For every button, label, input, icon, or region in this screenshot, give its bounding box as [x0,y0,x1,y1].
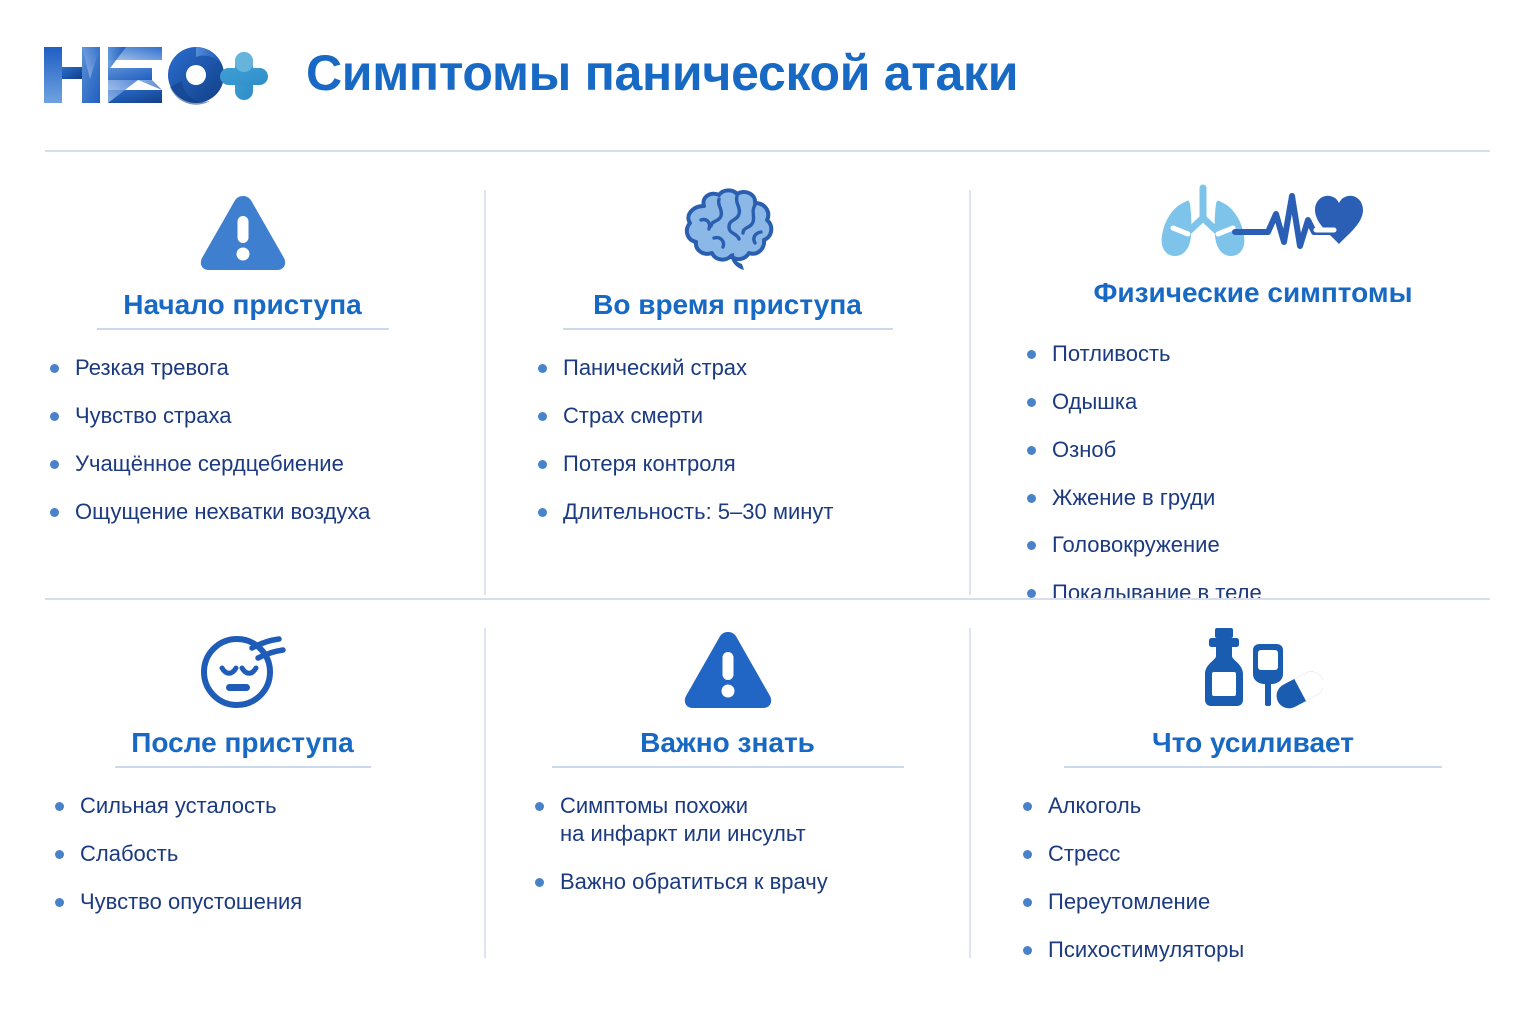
card-onset: Начало приступа Резкая тревога Чувство с… [0,160,485,598]
page-title: Симптомы панической атаки [306,48,1018,102]
infographic-page: Симптомы панической атаки Начало приступ… [0,0,1536,1024]
symptom-list: Потливость Одышка Озноб Жжение в груди Г… [966,340,1536,626]
list-item: Потливость [1022,340,1536,368]
card-title: Начало приступа [123,290,362,319]
list-item: Слабость [50,840,487,868]
brain-icon [673,182,783,274]
card-title-underline [552,766,904,768]
list-item: Потеря контроля [533,450,970,478]
list-item: Головокружение [1022,531,1536,559]
card-title: Физические симптомы [1094,278,1413,307]
lungs-ecg-heart-icon [1128,182,1378,262]
list-item: Учащённое сердцебиение [45,450,482,478]
list-item: Алкоголь [1018,792,1536,820]
list-item: Ощущение нехватки воздуха [45,498,482,526]
list-item: Жжение в груди [1022,484,1536,512]
card-title: Важно знать [640,728,815,757]
symptom-list: Сильная усталость Слабость Чувство опуст… [0,792,487,935]
card-title-underline [563,328,893,330]
warning-triangle-icon [198,182,288,274]
list-item-line: на инфаркт или инсульт [560,820,967,848]
symptom-list: Панический страх Страх смерти Потеря кон… [485,354,970,545]
list-item: Сильная усталость [50,792,487,820]
list-item: Страх смерти [533,402,970,430]
list-item: Резкая тревога [45,354,482,382]
list-item: Важно обратиться к врачу [530,868,967,896]
card-title-underline [115,766,371,768]
header-divider [45,150,1490,152]
card-after: После приступа Сильная усталость Слабост… [0,598,485,1018]
list-item: Психостимуляторы [1018,936,1536,964]
list-item: Длительность: 5–30 минут [533,498,970,526]
tired-face-icon [195,620,291,712]
list-item: Чувство опустошения [50,888,487,916]
card-aggravators: Что усиливает Алкоголь Стресс Переутомле… [970,598,1536,1018]
warning-triangle-icon [682,620,774,712]
list-item: Стресс [1018,840,1536,868]
list-item: Переутомление [1018,888,1536,916]
page-header: Симптомы панической атаки [0,0,1536,150]
neo-plus-logo [40,39,272,111]
card-during: Во время приступа Панический страх Страх… [485,160,970,598]
symptom-list: Симптомы похожи на инфаркт или инсульт В… [488,792,967,915]
list-item: Чувство страха [45,402,482,430]
list-item: Симптомы похожи на инфаркт или инсульт [530,792,967,847]
card-important: Важно знать Симптомы похожи на инфаркт и… [485,598,970,1018]
card-title: Во время приступа [593,290,862,319]
cards-grid: Начало приступа Резкая тревога Чувство с… [0,160,1536,1024]
list-item-line: Симптомы похожи [560,792,967,820]
bottle-glass-pill-icon [1183,620,1323,712]
symptom-list: Резкая тревога Чувство страха Учащённое … [3,354,482,545]
card-title-underline [97,328,389,330]
list-item: Озноб [1022,436,1536,464]
card-physical: Физические симптомы Потливость Одышка Оз… [970,160,1536,598]
card-title: После приступа [131,728,353,757]
card-title: Что усиливает [1152,728,1354,757]
list-item: Панический страх [533,354,970,382]
card-title-underline [1064,766,1442,768]
symptom-list: Алкоголь Стресс Переутомление Психостиму… [970,792,1536,983]
list-item: Одышка [1022,388,1536,416]
list-item-line: Важно обратиться к врачу [560,868,967,896]
cards-row-top: Начало приступа Резкая тревога Чувство с… [0,160,1536,598]
cards-row-bottom: После приступа Сильная усталость Слабост… [0,598,1536,1018]
